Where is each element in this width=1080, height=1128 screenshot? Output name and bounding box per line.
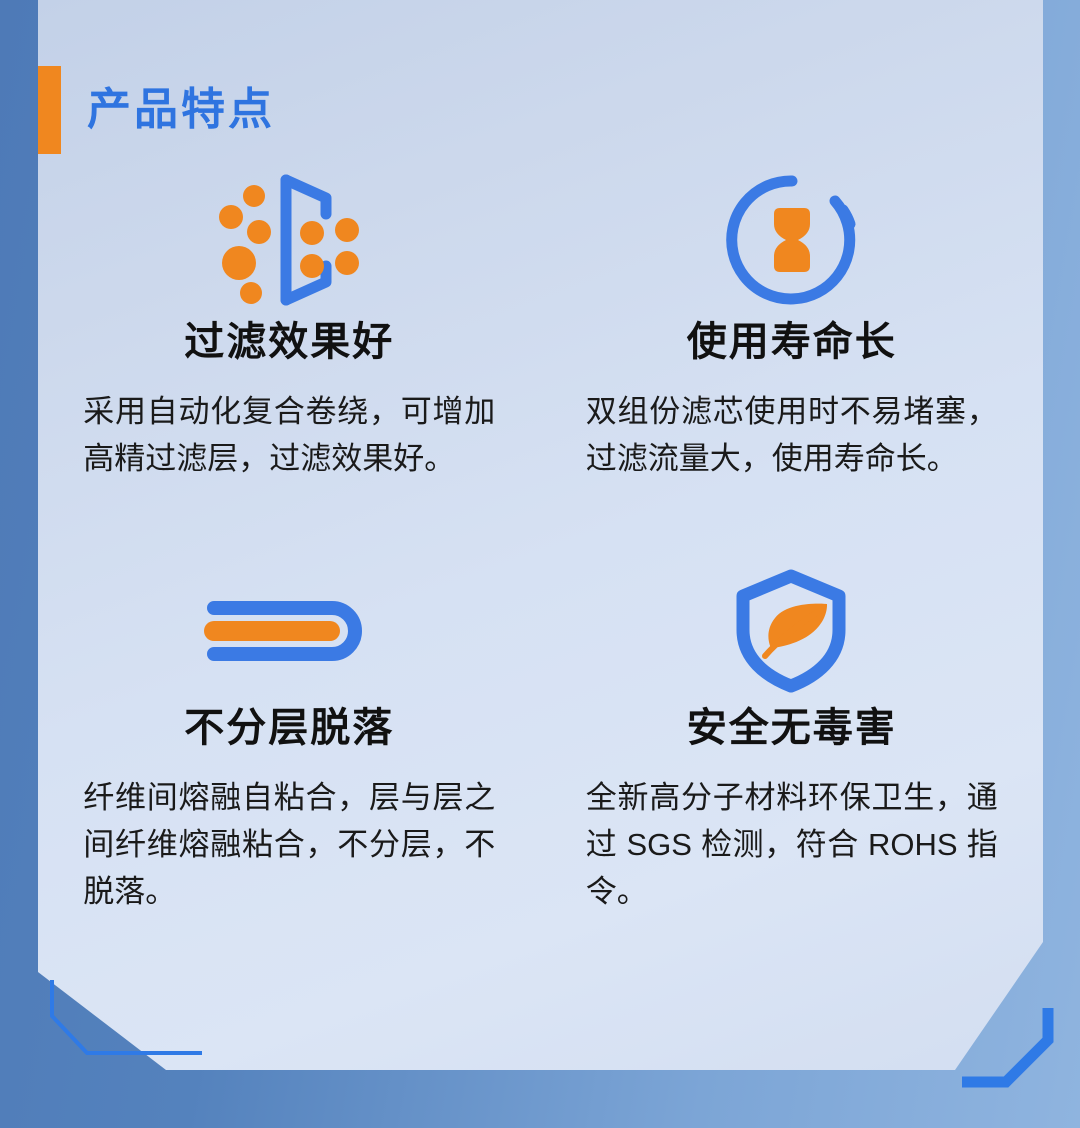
feature-title: 安全无毒害 <box>687 708 897 748</box>
feature-description: 纤维间熔融自粘合，层与层之间纤维熔融粘合，不分层，不脱落。 <box>83 774 495 915</box>
feature-description: 采用自动化复合卷绕，可增加高精过滤层，过滤效果好。 <box>83 388 495 482</box>
feature-title: 过滤效果好 <box>184 322 394 362</box>
feature-card-lifespan: 使用寿命长 双组份滤芯使用时不易堵塞，过滤流量大，使用寿命长。 <box>541 170 1044 482</box>
hourglass-circle-icon <box>722 170 862 310</box>
section-header: 产品特点 <box>38 64 275 156</box>
feature-description: 双组份滤芯使用时不易堵塞，过滤流量大，使用寿命长。 <box>586 388 998 482</box>
feature-card-no-delamination: 不分层脱落 纤维间熔融自粘合，层与层之间纤维熔融粘合，不分层，不脱落。 <box>38 566 541 915</box>
feature-title: 不分层脱落 <box>184 708 394 748</box>
feature-description: 全新高分子材料环保卫生，通过 SGS 检测，符合 ROHS 指令。 <box>586 774 998 915</box>
layers-bond-icon <box>202 566 377 696</box>
feature-card-nontoxic: 安全无毒害 全新高分子材料环保卫生，通过 SGS 检测，符合 ROHS 指令。 <box>541 566 1044 915</box>
page-title: 产品特点 <box>87 88 275 132</box>
filter-particles-icon <box>214 170 364 310</box>
shield-leaf-icon <box>729 566 854 696</box>
feature-card-filtration: 过滤效果好 采用自动化复合卷绕，可增加高精过滤层，过滤效果好。 <box>38 170 541 482</box>
feature-title: 使用寿命长 <box>687 322 897 362</box>
feature-grid: 过滤效果好 采用自动化复合卷绕，可增加高精过滤层，过滤效果好。 使用寿命长 双组… <box>38 170 1043 916</box>
header-accent-bar <box>38 66 61 154</box>
